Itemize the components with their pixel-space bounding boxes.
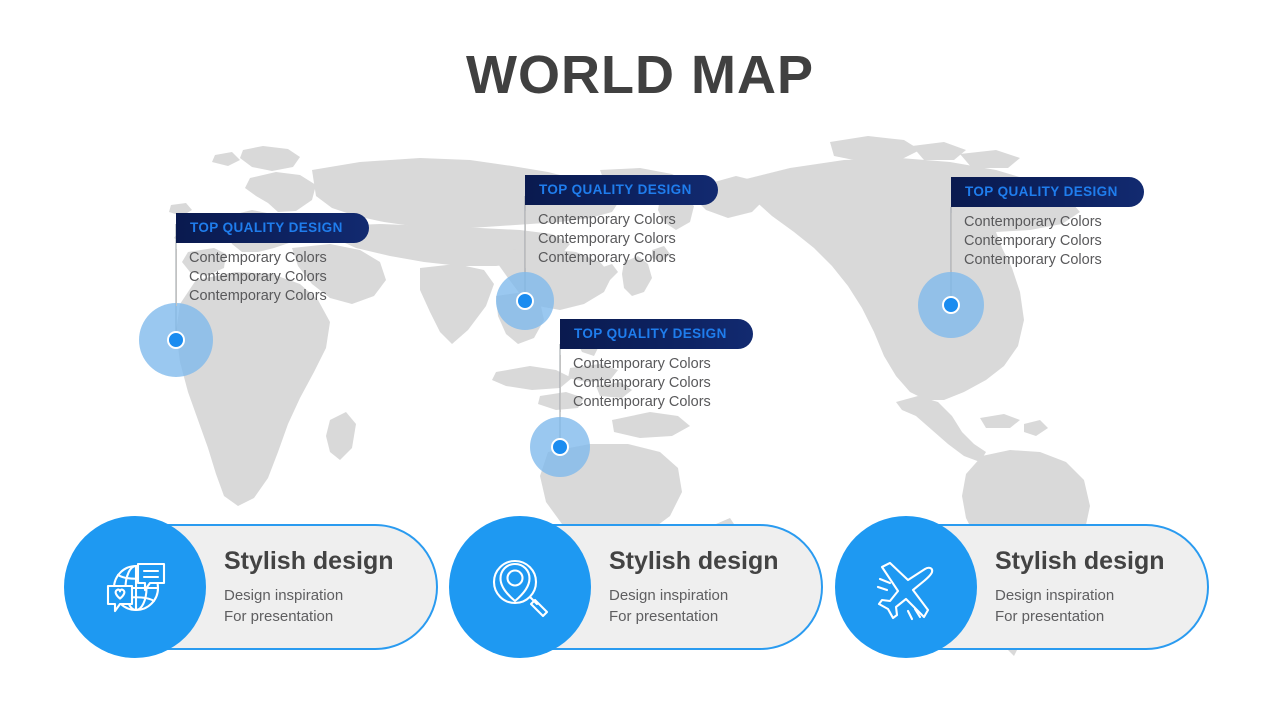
slide-root: WORLD MAP bbox=[0, 0, 1280, 720]
globe-chat-icon bbox=[98, 550, 172, 624]
callout-line: Contemporary Colors bbox=[189, 287, 369, 306]
callout-oceania: TOP QUALITY DESIGN Contemporary Colors C… bbox=[560, 319, 753, 412]
card-title: Stylish design bbox=[609, 547, 778, 576]
card-location-search[interactable]: Stylish design Design inspiration For pr… bbox=[457, 524, 823, 650]
marker-dot[interactable] bbox=[516, 292, 534, 310]
callout-body: Contemporary Colors Contemporary Colors … bbox=[560, 355, 753, 412]
marker-dot[interactable] bbox=[167, 331, 185, 349]
card-text: Stylish design Design inspiration For pr… bbox=[609, 547, 778, 627]
callout-line: Contemporary Colors bbox=[964, 213, 1144, 232]
callout-line: Contemporary Colors bbox=[573, 374, 753, 393]
card-icon-circle[interactable] bbox=[64, 516, 206, 658]
card-subtitle-line-2: For presentation bbox=[609, 606, 778, 627]
card-title: Stylish design bbox=[995, 547, 1164, 576]
callout-line: Contemporary Colors bbox=[189, 268, 369, 287]
callout-africa: TOP QUALITY DESIGN Contemporary Colors C… bbox=[176, 213, 369, 306]
callout-north-america: TOP QUALITY DESIGN Contemporary Colors C… bbox=[951, 177, 1144, 270]
card-subtitle-line-1: Design inspiration bbox=[995, 585, 1164, 606]
card-icon-circle[interactable] bbox=[449, 516, 591, 658]
callout-badge[interactable]: TOP QUALITY DESIGN bbox=[176, 213, 369, 243]
marker-dot[interactable] bbox=[551, 438, 569, 456]
card-title: Stylish design bbox=[224, 547, 393, 576]
callout-body: Contemporary Colors Contemporary Colors … bbox=[951, 213, 1144, 270]
callout-line: Contemporary Colors bbox=[964, 232, 1144, 251]
callout-line: Contemporary Colors bbox=[538, 249, 718, 268]
card-subtitle-line-2: For presentation bbox=[995, 606, 1164, 627]
magnifier-pin-icon bbox=[483, 550, 557, 624]
callout-line: Contemporary Colors bbox=[573, 393, 753, 412]
card-text: Stylish design Design inspiration For pr… bbox=[995, 547, 1164, 627]
card-subtitle-line-1: Design inspiration bbox=[224, 585, 393, 606]
card-travel[interactable]: Stylish design Design inspiration For pr… bbox=[843, 524, 1209, 650]
callout-line: Contemporary Colors bbox=[573, 355, 753, 374]
callout-body: Contemporary Colors Contemporary Colors … bbox=[525, 211, 718, 268]
callout-badge[interactable]: TOP QUALITY DESIGN bbox=[951, 177, 1144, 207]
callout-line: Contemporary Colors bbox=[538, 211, 718, 230]
airplane-icon bbox=[868, 549, 944, 625]
callout-line: Contemporary Colors bbox=[189, 249, 369, 268]
marker-dot[interactable] bbox=[942, 296, 960, 314]
card-text: Stylish design Design inspiration For pr… bbox=[224, 547, 393, 627]
card-subtitle-line-1: Design inspiration bbox=[609, 585, 778, 606]
card-icon-circle[interactable] bbox=[835, 516, 977, 658]
callout-badge[interactable]: TOP QUALITY DESIGN bbox=[525, 175, 718, 205]
card-global-communication[interactable]: Stylish design Design inspiration For pr… bbox=[72, 524, 438, 650]
callout-badge[interactable]: TOP QUALITY DESIGN bbox=[560, 319, 753, 349]
callout-body: Contemporary Colors Contemporary Colors … bbox=[176, 249, 369, 306]
card-subtitle-line-2: For presentation bbox=[224, 606, 393, 627]
callout-asia: TOP QUALITY DESIGN Contemporary Colors C… bbox=[525, 175, 718, 268]
callout-line: Contemporary Colors bbox=[964, 251, 1144, 270]
callout-line: Contemporary Colors bbox=[538, 230, 718, 249]
